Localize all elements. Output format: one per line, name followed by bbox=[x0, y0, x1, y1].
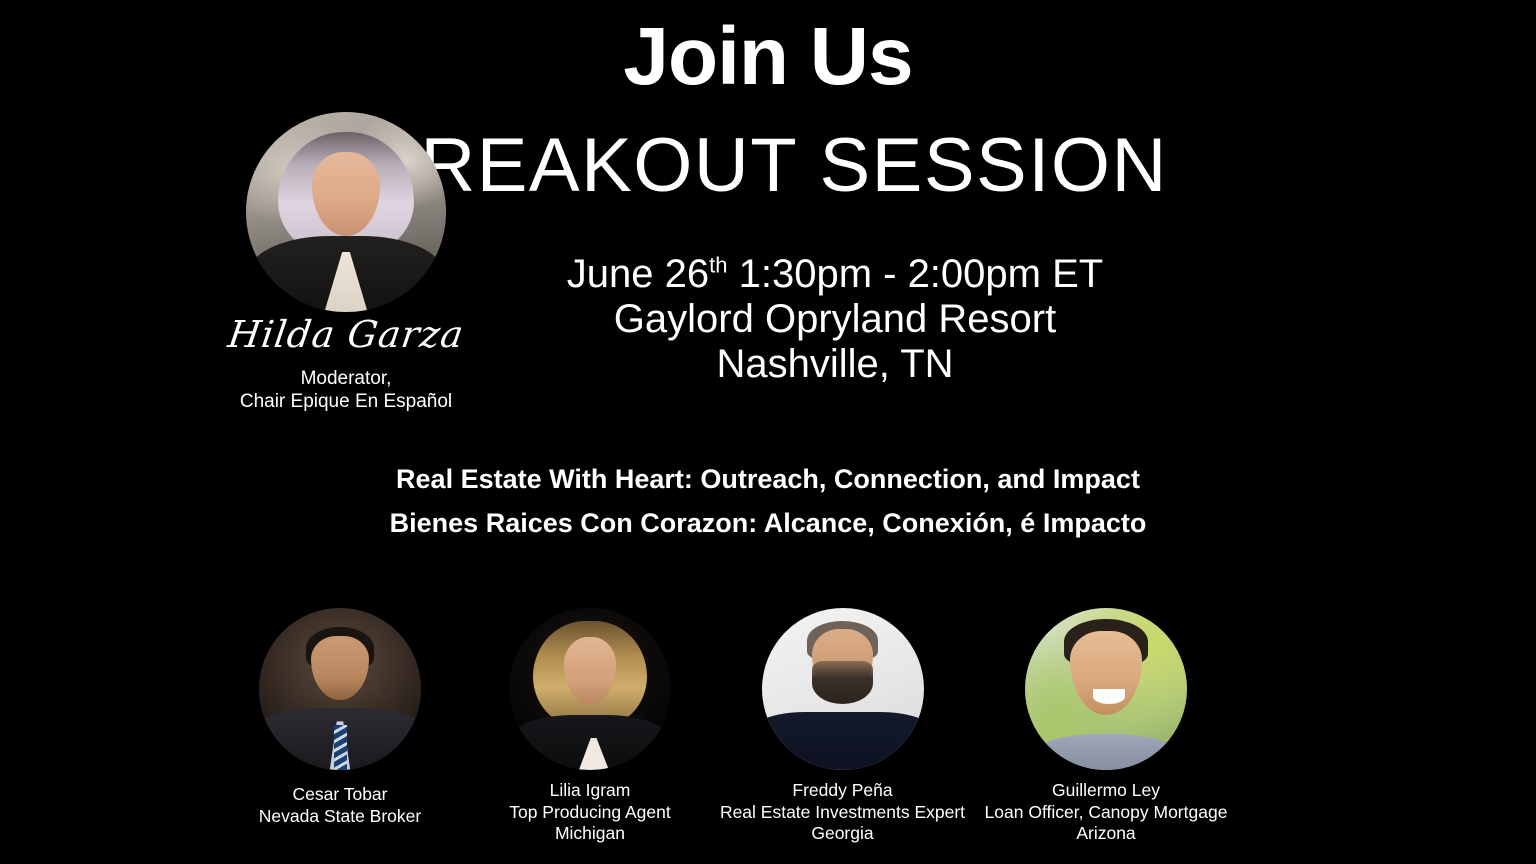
freddy-pena-photo bbox=[762, 608, 924, 770]
speaker-avatar-guillermo-ley bbox=[1025, 608, 1187, 770]
headline-join-us: Join Us bbox=[0, 16, 1536, 98]
session-title-block: Real Estate With Heart: Outreach, Connec… bbox=[0, 458, 1536, 545]
lilia-igram-photo bbox=[509, 608, 671, 770]
speaker-avatar-freddy-pena bbox=[762, 608, 924, 770]
speaker-details-freddy-pena: Freddy Peña Real Estate Investments Expe… bbox=[700, 780, 985, 845]
speakers-row: Cesar Tobar Nevada State Broker Lilia Ig… bbox=[0, 608, 1536, 864]
speaker-details-guillermo-ley: Guillermo Ley Loan Officer, Canopy Mortg… bbox=[960, 780, 1252, 845]
session-title-spanish: Bienes Raices Con Corazon: Alcance, Cone… bbox=[0, 502, 1536, 546]
speaker-card-cesar-tobar: Cesar Tobar Nevada State Broker bbox=[215, 608, 465, 827]
moderator-signature: Hilda Garza bbox=[219, 316, 472, 355]
speaker-card-lilia-igram: Lilia Igram Top Producing Agent Michigan bbox=[465, 608, 715, 845]
hilda-garza-photo bbox=[246, 112, 446, 312]
event-details: June 26th 1:30pm - 2:00pm ET Gaylord Opr… bbox=[430, 252, 1240, 386]
moderator-role: Moderator, Chair Epique En Español bbox=[222, 367, 470, 413]
promo-slide: Join Us BREAKOUT SESSION June 26th 1:30p… bbox=[0, 0, 1536, 864]
event-city: Nashville, TN bbox=[430, 342, 1240, 387]
speaker-details-lilia-igram: Lilia Igram Top Producing Agent Michigan bbox=[465, 780, 715, 845]
event-venue: Gaylord Opryland Resort bbox=[430, 297, 1240, 342]
speaker-details-cesar-tobar: Cesar Tobar Nevada State Broker bbox=[215, 784, 465, 827]
event-time-range: 1:30pm - 2:00pm ET bbox=[727, 252, 1103, 296]
speaker-avatar-lilia-igram bbox=[509, 608, 671, 770]
moderator-avatar bbox=[246, 112, 446, 312]
event-datetime-line: June 26th 1:30pm - 2:00pm ET bbox=[430, 252, 1240, 297]
date-ordinal-suffix: th bbox=[709, 253, 727, 278]
cesar-tobar-photo bbox=[259, 608, 421, 770]
speaker-card-freddy-pena: Freddy Peña Real Estate Investments Expe… bbox=[700, 608, 985, 845]
guillermo-ley-photo bbox=[1025, 608, 1187, 770]
speaker-card-guillermo-ley: Guillermo Ley Loan Officer, Canopy Mortg… bbox=[960, 608, 1252, 845]
moderator-block: Hilda Garza Moderator, Chair Epique En E… bbox=[222, 112, 470, 413]
speaker-avatar-cesar-tobar bbox=[259, 608, 421, 770]
event-date: June 26 bbox=[567, 252, 709, 296]
session-title-english: Real Estate With Heart: Outreach, Connec… bbox=[0, 458, 1536, 502]
